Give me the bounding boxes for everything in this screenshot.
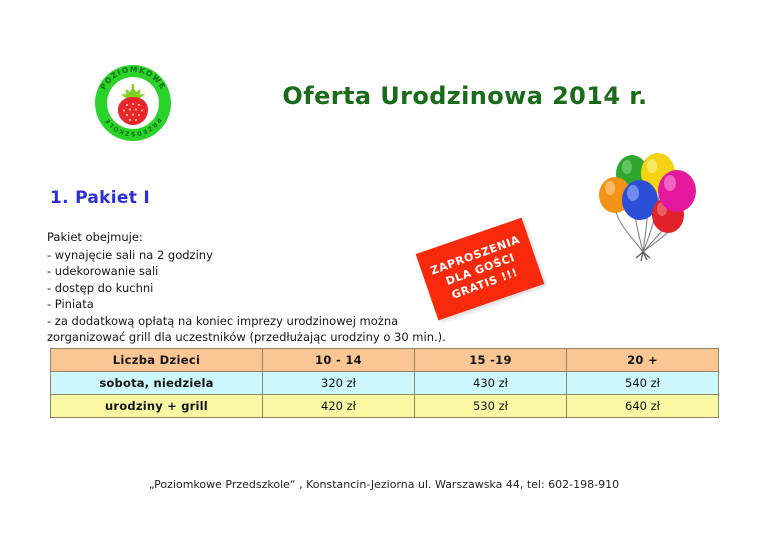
table-cell: 530 zł [415, 395, 567, 418]
table-cell: 430 zł [415, 372, 567, 395]
table-header-cell: 15 -19 [415, 349, 567, 372]
table-row: sobota, niedziela 320 zł 430 zł 540 zł [51, 372, 719, 395]
balloons-icon [588, 140, 708, 265]
table-row: urodziny + grill 420 zł 530 zł 640 zł [51, 395, 719, 418]
package-item: - za dodatkową opłatą na koniec imprezy … [47, 313, 467, 330]
package-item: - udekorowanie sali [47, 263, 467, 280]
price-table: Liczba Dzieci 10 - 14 15 -19 20 + sobota… [50, 348, 719, 418]
table-header-cell: Liczba Dzieci [51, 349, 263, 372]
package-intro: Pakiet obejmuje: [47, 229, 467, 246]
table-header-row: Liczba Dzieci 10 - 14 15 -19 20 + [51, 349, 719, 372]
document-page: POZIOMKOWE PRZEDSZKOLE Oferta Ur [0, 0, 768, 543]
page-title: Oferta Urodzinowa 2014 r. [250, 82, 680, 110]
package-description: Pakiet obejmuje: - wynajęcie sali na 2 g… [47, 229, 467, 346]
table-row-label: sobota, niedziela [51, 372, 263, 395]
strawberry-logo-icon: POZIOMKOWE PRZEDSZKOLE [93, 63, 173, 143]
table-cell: 540 zł [567, 372, 719, 395]
package-item: - dostęp do kuchni [47, 280, 467, 297]
balloon-knot [636, 252, 650, 261]
section-heading-pakiet-1: 1. Pakiet I [50, 188, 150, 208]
footer-contact: „Poziomkowe Przedszkole“ , Konstancin-Je… [0, 478, 768, 491]
table-cell: 420 zł [263, 395, 415, 418]
package-item: - wynajęcie sali na 2 godziny [47, 247, 467, 264]
table-cell: 640 zł [567, 395, 719, 418]
poziomkowe-przedszkole-logo: POZIOMKOWE PRZEDSZKOLE [93, 63, 173, 143]
table-header-cell: 20 + [567, 349, 719, 372]
package-item: - Piniata [47, 296, 467, 313]
balloon-magenta [658, 170, 696, 212]
balloons-decoration [588, 140, 708, 265]
table-header-cell: 10 - 14 [263, 349, 415, 372]
table-cell: 320 zł [263, 372, 415, 395]
package-item: zorganizować grill dla uczestników (prze… [47, 329, 467, 346]
table-row-label: urodziny + grill [51, 395, 263, 418]
